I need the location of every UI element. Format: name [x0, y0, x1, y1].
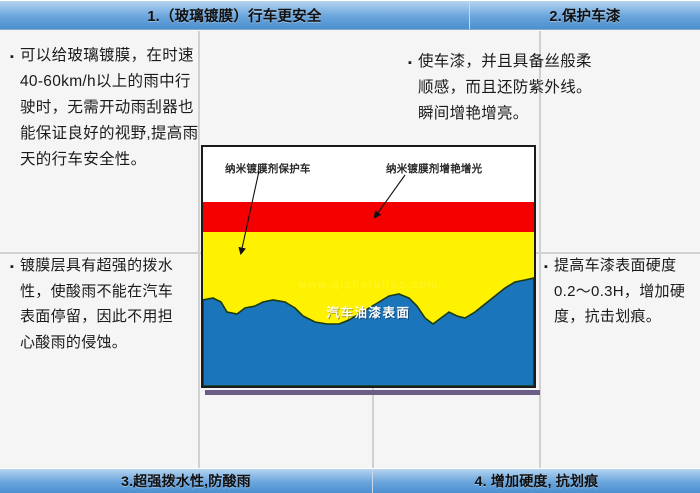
bullet-text-3: 镀膜层具有超强的拨水性，使酸雨不能在汽车表面停留，因此不用担心酸雨的侵蚀。 [20, 253, 188, 355]
diagram-drop-shadow [205, 390, 540, 395]
coating-layers-diagram: www.qichetuliao.com 汽车油漆表面 纳米镀膜剂保护车 纳米镀膜… [201, 145, 536, 388]
header-label-1: 1.（玻璃镀膜）行车更安全 [147, 5, 321, 26]
header-label-4: 4. 增加硬度, 抗划痕 [475, 471, 599, 491]
bottom-header-row: 3.超强拨水性,防酸雨 4. 增加硬度, 抗划痕 [0, 468, 700, 493]
bullet-text-2: 使车漆，并且具备丝般柔顺感，而且还防紫外线。瞬间增艳增亮。 [418, 49, 604, 127]
bullet-item-2: 使车漆，并且具备丝般柔顺感，而且还防紫外线。瞬间增艳增亮。 [404, 49, 604, 127]
bullet-marker-icon [540, 253, 554, 281]
header-cell-4: 4. 增加硬度, 抗划痕 [373, 469, 700, 493]
slide-root: 1.（玻璃镀膜）行车更安全 2.保护车漆 可以给玻璃镀膜，在时速40-60km/… [0, 0, 700, 493]
diagram-arrows [203, 147, 534, 386]
bullet-item-4: 提高车漆表面硬度0.2～0.3H，增加硬度，抗击划痕。 [540, 253, 698, 330]
header-label-3: 3.超强拨水性,防酸雨 [121, 471, 251, 491]
top-header-row: 1.（玻璃镀膜）行车更安全 2.保护车漆 [0, 0, 700, 30]
header-cell-3: 3.超强拨水性,防酸雨 [0, 469, 373, 493]
bullet-item-3: 镀膜层具有超强的拨水性，使酸雨不能在汽车表面停留，因此不用担心酸雨的侵蚀。 [6, 253, 188, 355]
bullet-marker-icon [404, 49, 418, 77]
bullet-text-1: 可以给玻璃镀膜，在时速40-60km/h以上的雨中行驶时，无需开动雨刮器也能保证… [20, 43, 202, 173]
bullet-text-4: 提高车漆表面硬度0.2～0.3H，增加硬度，抗击划痕。 [554, 253, 698, 330]
header-cell-2: 2.保护车漆 [470, 1, 700, 29]
bullet-marker-icon [6, 43, 20, 71]
header-label-2: 2.保护车漆 [549, 5, 620, 26]
header-cell-1: 1.（玻璃镀膜）行车更安全 [0, 1, 470, 29]
bullet-item-1: 可以给玻璃镀膜，在时速40-60km/h以上的雨中行驶时，无需开动雨刮器也能保证… [6, 43, 202, 173]
vertical-divider-lower [198, 254, 200, 468]
bullet-marker-icon [6, 253, 20, 281]
